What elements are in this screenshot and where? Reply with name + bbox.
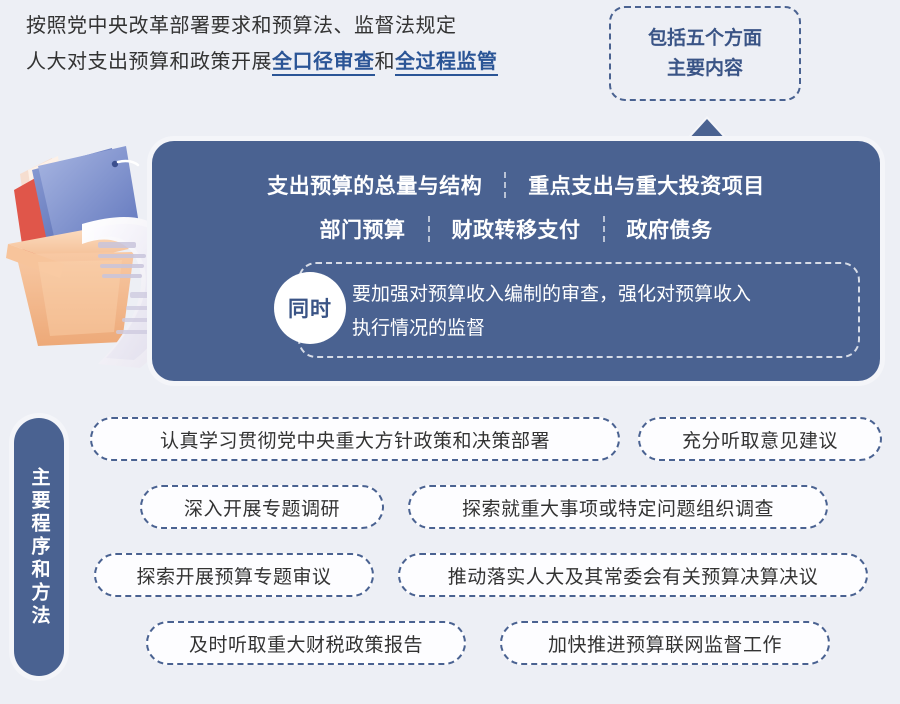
procedure-pill-implement-resolutions[interactable]: 推动落实人大及其常委会有关预算决算决议 bbox=[398, 553, 868, 597]
callout-line-1: 包括五个方面 bbox=[648, 24, 762, 54]
procedure-pill-label: 深入开展专题调研 bbox=[184, 494, 340, 521]
panel-item-rows: 支出预算的总量与结构 重点支出与重大投资项目 部门预算 财政转移支付 政府债务 bbox=[152, 163, 880, 251]
procedure-pill-online-supervision[interactable]: 加快推进预算联网监督工作 bbox=[500, 621, 830, 665]
procedure-pill-study-policy[interactable]: 认真学习贯彻党中央重大方针政策和决策部署 bbox=[90, 417, 620, 461]
header-line-2-middle: 和 bbox=[375, 51, 396, 73]
procedure-pill-budget-deliberation[interactable]: 探索开展预算专题审议 bbox=[94, 553, 374, 597]
panel-item-department-budget: 部门预算 bbox=[298, 214, 428, 244]
header-line-2-prefix: 人大对支出预算和政策开展 bbox=[26, 51, 272, 73]
callout-five-aspects: 包括五个方面 主要内容 bbox=[609, 6, 801, 101]
header-line-1: 按照党中央改革部署要求和预算法、监督法规定 bbox=[26, 8, 606, 44]
procedure-pill-label: 探索开展预算专题审议 bbox=[136, 562, 331, 589]
simultaneous-note-box: 要加强对预算收入编制的审查，强化对预算收入 执行情况的监督 bbox=[298, 262, 860, 358]
procedure-pill-organize-investigation[interactable]: 探索就重大事项或特定问题组织调查 bbox=[408, 485, 828, 529]
procedure-pill-special-research[interactable]: 深入开展专题调研 bbox=[140, 485, 384, 529]
panel-row-1: 支出预算的总量与结构 重点支出与重大投资项目 bbox=[152, 163, 880, 207]
simultaneous-note-text: 要加强对预算收入编制的审查，强化对预算收入 执行情况的监督 bbox=[352, 278, 852, 346]
callout-pointer-arrow bbox=[686, 119, 728, 142]
simultaneous-badge-label: 同时 bbox=[288, 293, 332, 323]
procedures-methods-label-text: 主要程序和方法 bbox=[30, 467, 49, 628]
procedure-pill-label: 推动落实人大及其常委会有关预算决算决议 bbox=[448, 562, 819, 589]
procedure-pill-label: 充分听取意见建议 bbox=[682, 426, 838, 453]
panel-item-total-structure: 支出预算的总量与结构 bbox=[245, 170, 504, 200]
header-accent-quanguocheng: 全过程监管 bbox=[395, 51, 498, 76]
procedure-pill-label: 加快推进预算联网监督工作 bbox=[548, 630, 782, 657]
procedure-pill-label: 探索就重大事项或特定问题组织调查 bbox=[462, 494, 774, 521]
procedure-pill-tax-policy-report[interactable]: 及时听取重大财税政策报告 bbox=[146, 621, 466, 665]
infographic-root: 按照党中央改革部署要求和预算法、监督法规定 人大对支出预算和政策开展全口径审查和… bbox=[0, 0, 900, 704]
procedure-pill-label: 认真学习贯彻党中央重大方针政策和决策部署 bbox=[160, 426, 550, 453]
header-line-2: 人大对支出预算和政策开展全口径审查和全过程监管 bbox=[26, 44, 606, 80]
header-accent-quankoujing: 全口径审查 bbox=[272, 51, 375, 76]
procedure-pill-label: 及时听取重大财税政策报告 bbox=[189, 630, 423, 657]
panel-item-transfer-payment: 财政转移支付 bbox=[430, 214, 603, 244]
callout-line-2: 主要内容 bbox=[667, 54, 743, 84]
simultaneous-badge: 同时 bbox=[274, 272, 346, 344]
procedures-methods-label: 主要程序和方法 bbox=[14, 418, 64, 676]
panel-item-government-debt: 政府债务 bbox=[605, 214, 735, 244]
header-text-block: 按照党中央改革部署要求和预算法、监督法规定 人大对支出预算和政策开展全口径审查和… bbox=[26, 8, 606, 80]
procedure-pill-listen-opinions[interactable]: 充分听取意见建议 bbox=[638, 417, 882, 461]
simultaneous-note-line-2: 执行情况的监督 bbox=[352, 312, 852, 346]
panel-row-2: 部门预算 财政转移支付 政府债务 bbox=[152, 207, 880, 251]
panel-item-key-expenditure: 重点支出与重大投资项目 bbox=[506, 170, 787, 200]
simultaneous-note-line-1: 要加强对预算收入编制的审查，强化对预算收入 bbox=[352, 278, 852, 312]
